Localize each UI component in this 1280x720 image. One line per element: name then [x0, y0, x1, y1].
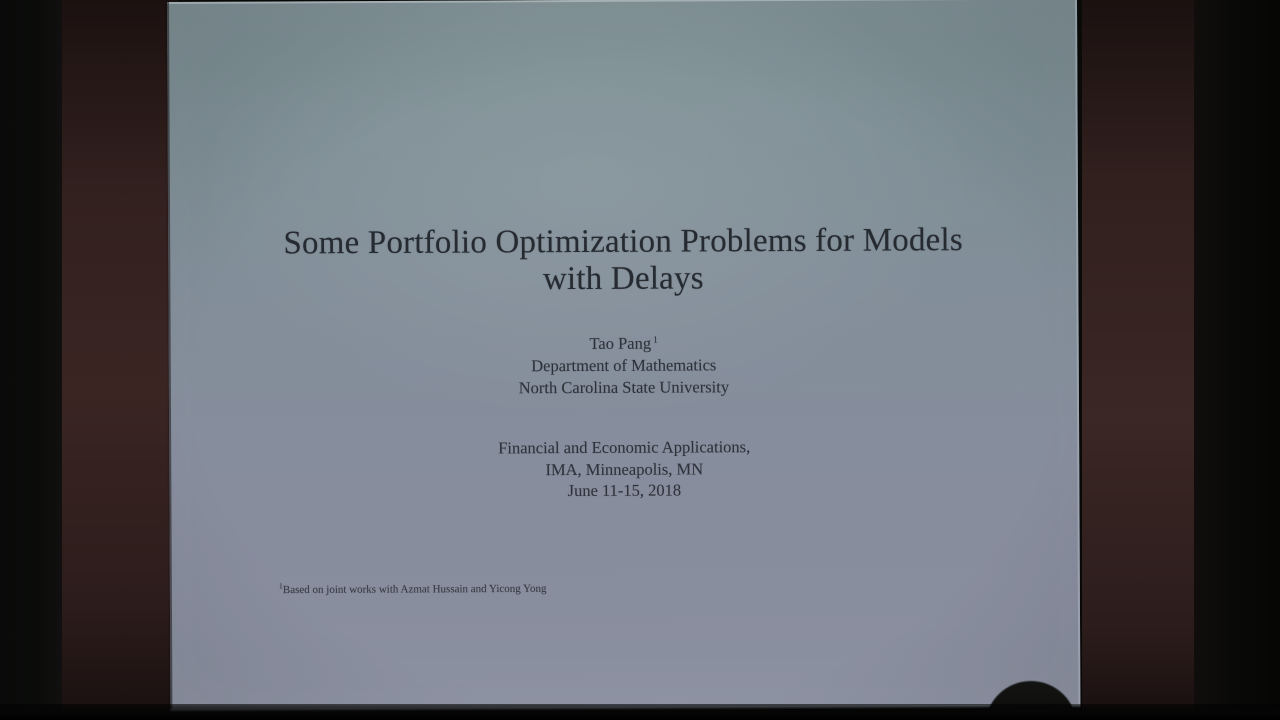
slide-title-line-2: with Delays [218, 259, 1028, 300]
author-footnote-marker: 1 [653, 335, 658, 345]
foreground-floor-shadow [0, 704, 1280, 720]
left-dark-wall [0, 0, 64, 720]
slide-title: Some Portfolio Optimization Problems for… [218, 222, 1028, 301]
presentation-slide: Some Portfolio Optimization Problems for… [167, 0, 1080, 712]
author-institution: North Carolina State University [219, 374, 1029, 400]
slide-footnote: 1Based on joint works with Azmat Hussain… [279, 578, 979, 597]
author-block: Tao Pang1 Department of Mathematics Nort… [219, 331, 1029, 400]
footnote-text: Based on joint works with Azmat Hussain … [283, 583, 547, 596]
lecture-photo-stage: Some Portfolio Optimization Problems for… [0, 0, 1280, 720]
slide-title-line-1: Some Portfolio Optimization Problems for… [218, 222, 1028, 263]
right-maroon-wall [1082, 0, 1196, 720]
venue-block: Financial and Economic Applications, IMA… [219, 435, 1029, 504]
right-dark-wall [1194, 0, 1280, 720]
projection-screen: Some Portfolio Optimization Problems for… [167, 0, 1080, 712]
left-maroon-wall [62, 0, 178, 712]
venue-dates: June 11-15, 2018 [219, 478, 1029, 504]
author-name: Tao Pang [589, 334, 651, 353]
